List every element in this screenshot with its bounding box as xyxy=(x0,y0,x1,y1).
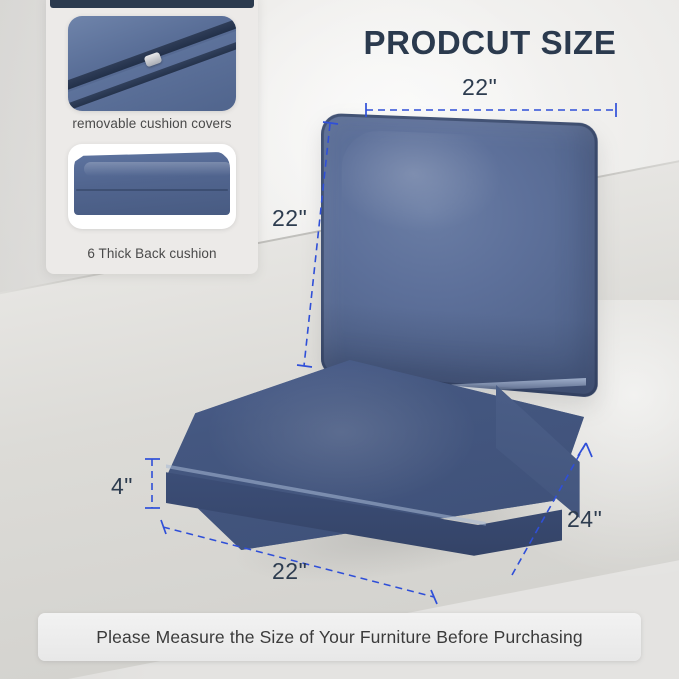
dimension-label-seat-thickness: 4" xyxy=(111,473,133,500)
back-cushion-thumb-seam xyxy=(76,189,228,191)
measure-notice-text: Please Measure the Size of Your Furnitur… xyxy=(96,627,583,648)
thumbnail-caption-back-cushion: 6 Thick Back cushion xyxy=(46,246,258,261)
thumbnail-caption-removable-cover: removable cushion covers xyxy=(46,116,258,131)
feature-panel: removable cushion covers 6 Thick Back cu… xyxy=(46,0,258,274)
dimension-label-back-width: 22" xyxy=(462,74,497,101)
page-title: PRODCUT SIZE xyxy=(340,24,640,62)
back-cushion-thumb-highlight xyxy=(84,162,232,176)
dimension-label-seat-width: 22" xyxy=(272,558,307,585)
back-cushion-thumb-body xyxy=(74,152,230,215)
thumbnail-back-cushion[interactable] xyxy=(68,144,236,229)
dimension-label-back-height: 22" xyxy=(272,205,307,232)
product-size-infographic: 22" 22" 4" 22" 24" PRODCUT SIZE removabl… xyxy=(0,0,679,679)
dimension-label-seat-depth: 24" xyxy=(567,506,602,533)
dim-cap-back-height-top xyxy=(323,122,338,124)
dim-cap-back-height-bottom xyxy=(297,365,312,367)
thumbnail-removable-cover[interactable] xyxy=(68,16,236,111)
dim-line-back-height xyxy=(304,124,330,366)
measure-notice-banner: Please Measure the Size of Your Furnitur… xyxy=(38,613,641,661)
panel-top-bar xyxy=(50,0,254,8)
